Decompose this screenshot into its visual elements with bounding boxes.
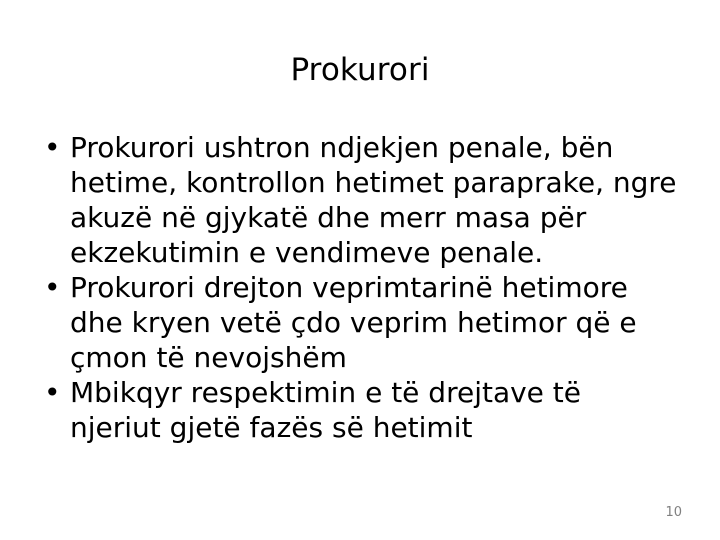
list-item: • Mbikqyr respektimin e të drejtave të n… bbox=[38, 375, 678, 445]
list-item-text: Prokurori drejton veprimtarinë hetimore … bbox=[70, 270, 678, 375]
list-item-text: Mbikqyr respektimin e të drejtave të nje… bbox=[70, 375, 678, 445]
bullet-icon: • bbox=[44, 130, 64, 165]
slide-body: • Prokurori ushtron ndjekjen penale, bën… bbox=[38, 130, 678, 445]
slide-canvas: Prokurori • Prokurori ushtron ndjekjen p… bbox=[0, 0, 720, 540]
page-title: Prokurori bbox=[0, 50, 720, 90]
slide-number: 10 bbox=[665, 504, 682, 522]
bullet-icon: • bbox=[44, 375, 64, 410]
list-item-text: Prokurori ushtron ndjekjen penale, bën h… bbox=[70, 130, 678, 270]
list-item: • Prokurori ushtron ndjekjen penale, bën… bbox=[38, 130, 678, 270]
bullet-icon: • bbox=[44, 270, 64, 305]
list-item: • Prokurori drejton veprimtarinë hetimor… bbox=[38, 270, 678, 375]
